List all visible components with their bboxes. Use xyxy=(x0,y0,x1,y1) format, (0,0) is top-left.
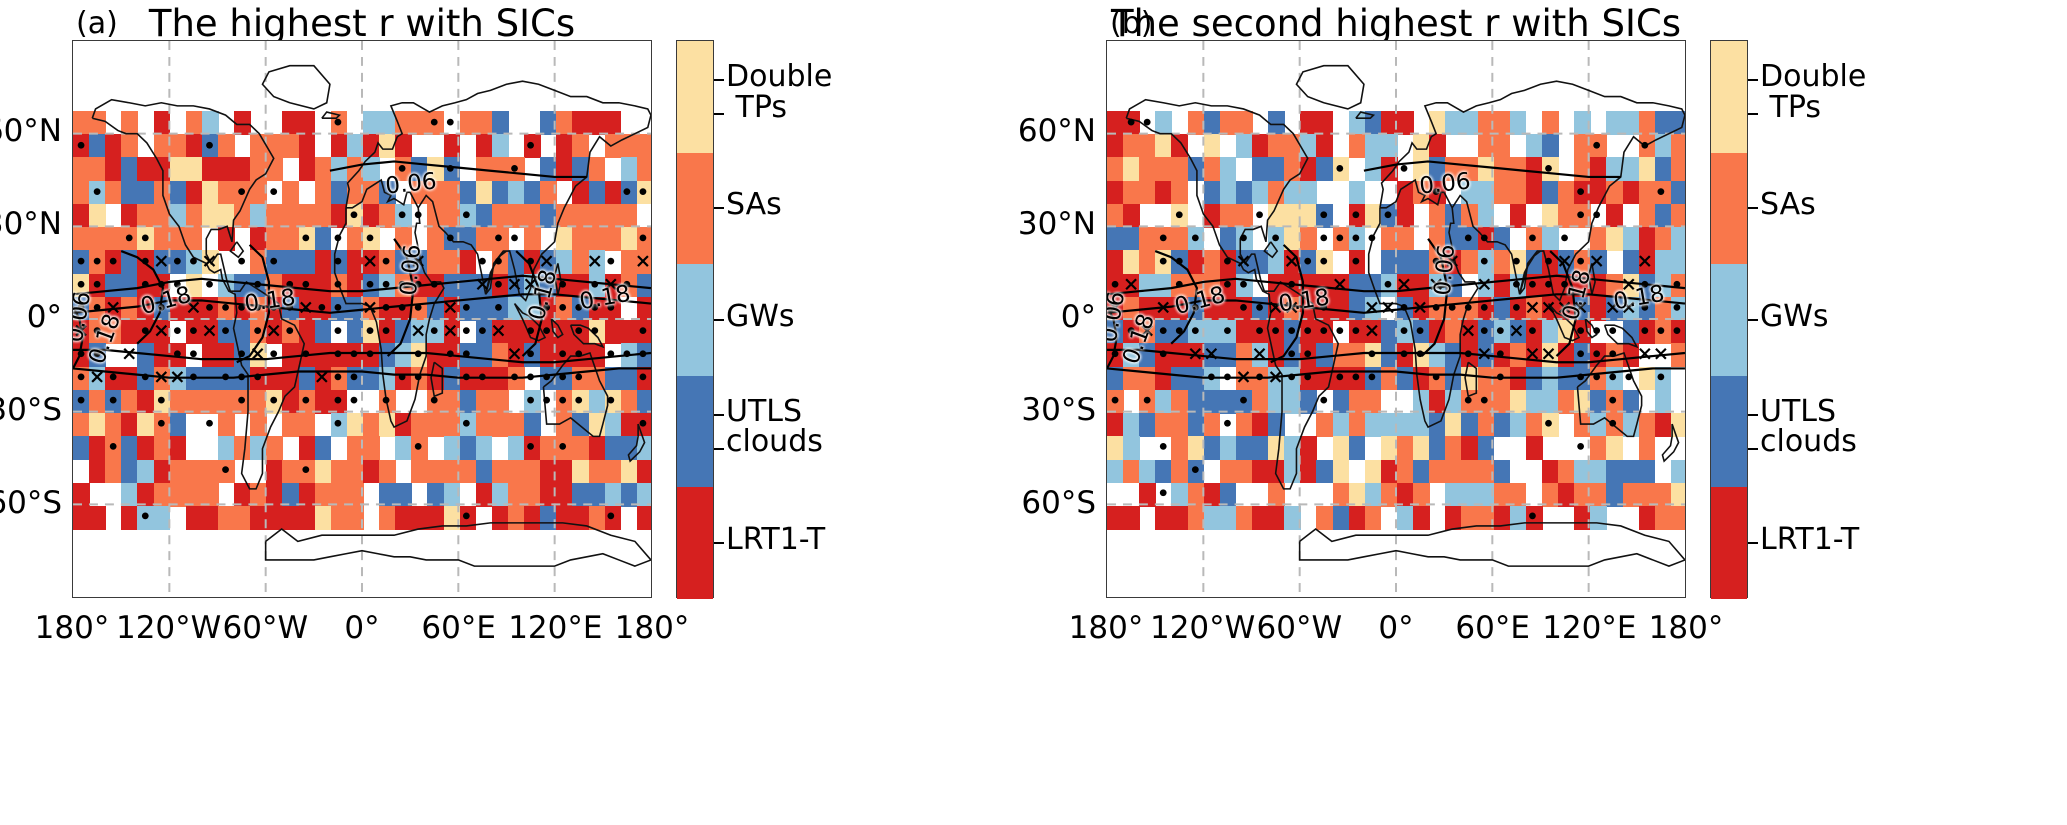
heatmap-cell xyxy=(1606,367,1623,391)
heatmap-cell xyxy=(266,157,283,181)
heatmap-cell xyxy=(234,390,251,414)
heatmap-cell xyxy=(234,181,251,205)
heatmap-cell xyxy=(637,413,652,437)
colorbar-segment-2[interactable] xyxy=(677,264,713,376)
heatmap-cell xyxy=(1590,436,1607,460)
heatmap-cell xyxy=(1639,157,1656,181)
heatmap-cell xyxy=(1171,250,1188,274)
heatmap-cell xyxy=(218,413,235,437)
heatmap-cell xyxy=(266,436,283,460)
heatmap-cell xyxy=(1671,111,1686,135)
heatmap-cell xyxy=(1333,436,1350,460)
heatmap-cell xyxy=(1349,436,1366,460)
heatmap-cell xyxy=(250,204,267,228)
heatmap-cell xyxy=(427,343,444,367)
heatmap-cell xyxy=(1171,134,1188,158)
heatmap-cell xyxy=(1397,274,1414,298)
heatmap-cell xyxy=(1284,343,1301,367)
heatmap-cell xyxy=(1188,413,1205,437)
heatmap-cell xyxy=(121,483,138,507)
heatmap-cell xyxy=(476,227,493,251)
heatmap-cell xyxy=(137,181,154,205)
heatmap-cell xyxy=(137,367,154,391)
heatmap-cell xyxy=(1333,297,1350,321)
heatmap-cell xyxy=(234,204,251,228)
heatmap-cell xyxy=(1333,367,1350,391)
heatmap-cell xyxy=(315,320,332,344)
heatmap-cell xyxy=(1349,343,1366,367)
heatmap-cell xyxy=(1333,343,1350,367)
heatmap-cell xyxy=(1284,157,1301,181)
heatmap-cell xyxy=(572,250,589,274)
heatmap-cell xyxy=(621,157,638,181)
heatmap-cell xyxy=(299,343,316,367)
heatmap-cell xyxy=(427,367,444,391)
heatmap-cell xyxy=(266,320,283,344)
heatmap-cell xyxy=(1461,367,1478,391)
heatmap-cell xyxy=(266,227,283,251)
heatmap-cell xyxy=(1123,181,1140,205)
heatmap-cell xyxy=(121,204,138,228)
heatmap-cell xyxy=(589,181,606,205)
colorbar-tick xyxy=(714,79,724,81)
heatmap-cell xyxy=(170,413,187,437)
heatmap-cell xyxy=(1429,320,1446,344)
heatmap-cell xyxy=(363,134,380,158)
heatmap-cell xyxy=(299,204,316,228)
heatmap-cell xyxy=(1204,250,1221,274)
heatmap-cell xyxy=(170,250,187,274)
heatmap-cell xyxy=(218,157,235,181)
heatmap-cell xyxy=(347,367,364,391)
ytick-a-3: 30°S xyxy=(0,392,62,428)
heatmap-cell xyxy=(1606,181,1623,205)
heatmap-cell xyxy=(202,343,219,367)
heatmap-cell xyxy=(282,227,299,251)
heatmap-cell xyxy=(1494,506,1511,530)
heatmap-cell xyxy=(282,111,299,135)
heatmap-cell xyxy=(1171,483,1188,507)
heatmap-cell xyxy=(1284,506,1301,530)
heatmap-cell xyxy=(1381,227,1398,251)
heatmap-cell xyxy=(170,157,187,181)
colorbar-segment-0[interactable] xyxy=(1711,41,1747,153)
heatmap-cell xyxy=(1478,297,1495,321)
heatmap-cell xyxy=(186,157,203,181)
heatmap-cell xyxy=(605,506,622,530)
heatmap-cell xyxy=(1671,413,1686,437)
heatmap-cell xyxy=(605,436,622,460)
heatmap-cell xyxy=(1236,506,1253,530)
heatmap-cell xyxy=(315,204,332,228)
heatmap-cell xyxy=(1365,320,1382,344)
heatmap-cell xyxy=(218,204,235,228)
heatmap-cell xyxy=(282,320,299,344)
heatmap-cell xyxy=(427,274,444,298)
heatmap-cell xyxy=(1413,343,1430,367)
heatmap-cell xyxy=(1204,343,1221,367)
heatmap-cell xyxy=(1510,483,1527,507)
heatmap-cell xyxy=(121,274,138,298)
heatmap-cell xyxy=(492,483,509,507)
heatmap-cell xyxy=(589,390,606,414)
heatmap-cell xyxy=(1333,413,1350,437)
colorbar-a xyxy=(676,40,714,598)
heatmap-cell xyxy=(1188,157,1205,181)
heatmap-cell xyxy=(315,460,332,484)
heatmap-cell xyxy=(460,413,477,437)
heatmap-cell xyxy=(1381,460,1398,484)
heatmap-cell xyxy=(379,460,396,484)
heatmap-cell xyxy=(379,506,396,530)
heatmap-cell xyxy=(1204,506,1221,530)
heatmap-cell xyxy=(1284,227,1301,251)
heatmap-cell xyxy=(331,483,348,507)
figure-root: (a)The highest r with SICs0.060.180.180.… xyxy=(0,0,2067,825)
heatmap-cell xyxy=(1365,204,1382,228)
heatmap-cell xyxy=(1494,157,1511,181)
heatmap-cell xyxy=(170,436,187,460)
heatmap-cell xyxy=(444,274,461,298)
heatmap-cell xyxy=(347,134,364,158)
heatmap-cell xyxy=(492,413,509,437)
heatmap-cell xyxy=(1655,320,1672,344)
heatmap-cell xyxy=(1252,390,1269,414)
heatmap-cell xyxy=(1671,227,1686,251)
heatmap-cell xyxy=(315,506,332,530)
heatmap-cell xyxy=(73,204,90,228)
heatmap-cell xyxy=(1397,436,1414,460)
heatmap-cell xyxy=(105,134,122,158)
heatmap-cell xyxy=(1349,297,1366,321)
heatmap-cell xyxy=(1365,157,1382,181)
heatmap-cell xyxy=(89,367,106,391)
heatmap-cell xyxy=(1171,390,1188,414)
heatmap-cell xyxy=(1590,343,1607,367)
heatmap-cell xyxy=(1606,390,1623,414)
heatmap-cell xyxy=(121,436,138,460)
heatmap-cell xyxy=(492,390,509,414)
heatmap-cell xyxy=(1639,111,1656,135)
heatmap-cell xyxy=(1574,483,1591,507)
heatmap-cell xyxy=(605,320,622,344)
heatmap-cell xyxy=(1381,413,1398,437)
colorbar-label-0: Double TPs xyxy=(726,62,832,124)
heatmap-cell xyxy=(218,320,235,344)
heatmap-cell xyxy=(460,367,477,391)
heatmap-cell xyxy=(1268,390,1285,414)
heatmap-cell xyxy=(460,181,477,205)
heatmap-cell xyxy=(1188,111,1205,135)
heatmap-cell xyxy=(299,460,316,484)
heatmap-cell xyxy=(1526,134,1543,158)
heatmap-cell xyxy=(363,343,380,367)
heatmap-cell xyxy=(1478,343,1495,367)
heatmap-cell xyxy=(605,367,622,391)
ytick-b-1: 30°N xyxy=(906,206,1096,242)
colorbar-label-0: Double TPs xyxy=(1760,62,1866,124)
heatmap-cell xyxy=(476,436,493,460)
heatmap-cell xyxy=(1606,343,1623,367)
heatmap-cell xyxy=(1510,343,1527,367)
heatmap-cell xyxy=(556,413,573,437)
heatmap-cell xyxy=(1333,157,1350,181)
heatmap-cell xyxy=(363,274,380,298)
heatmap-cell xyxy=(1316,204,1333,228)
heatmap-cell xyxy=(1349,320,1366,344)
colorbar-segment-3[interactable] xyxy=(1711,376,1747,488)
heatmap-cell xyxy=(556,390,573,414)
heatmap-cell xyxy=(1655,227,1672,251)
heatmap-cell xyxy=(121,460,138,484)
heatmap-cell xyxy=(1655,204,1672,228)
heatmap-cell xyxy=(1639,227,1656,251)
colorbar-segment-1[interactable] xyxy=(1711,153,1747,265)
colorbar-segment-1[interactable] xyxy=(677,153,713,265)
heatmap-cell xyxy=(1268,227,1285,251)
heatmap-cell xyxy=(137,343,154,367)
heatmap-cell xyxy=(1316,134,1333,158)
ytick-a-0: 60°N xyxy=(0,113,62,149)
ytick-b-0: 60°N xyxy=(906,113,1096,149)
heatmap-cell xyxy=(299,274,316,298)
heatmap-cell xyxy=(1381,134,1398,158)
heatmap-cell xyxy=(637,134,652,158)
heatmap-cell xyxy=(1478,460,1495,484)
heatmap-cell xyxy=(1606,483,1623,507)
heatmap-cell xyxy=(1542,460,1559,484)
heatmap-cell xyxy=(524,204,541,228)
heatmap-cell xyxy=(1236,367,1253,391)
heatmap-cell xyxy=(508,483,525,507)
heatmap-cell xyxy=(331,250,348,274)
heatmap-cell xyxy=(234,157,251,181)
heatmap-cell xyxy=(1268,367,1285,391)
heatmap-cell xyxy=(121,250,138,274)
heatmap-cell xyxy=(524,413,541,437)
heatmap-cell xyxy=(1365,134,1382,158)
heatmap-cell xyxy=(572,367,589,391)
heatmap-cell xyxy=(1252,297,1269,321)
heatmap-cell xyxy=(73,506,90,530)
heatmap-cell xyxy=(476,181,493,205)
heatmap-cell xyxy=(427,506,444,530)
heatmap-cell xyxy=(492,297,509,321)
heatmap-cell xyxy=(266,483,283,507)
heatmap-cell xyxy=(492,320,509,344)
panel-title-b: The second highest r with SICs xyxy=(1106,2,1686,45)
heatmap-cell xyxy=(1478,506,1495,530)
heatmap-cell xyxy=(1655,181,1672,205)
heatmap-cell xyxy=(460,343,477,367)
heatmap-cell xyxy=(395,320,412,344)
heatmap-cell xyxy=(492,134,509,158)
heatmap-cell xyxy=(492,506,509,530)
heatmap-cell xyxy=(1574,367,1591,391)
heatmap-cell xyxy=(1397,367,1414,391)
heatmap-cell xyxy=(266,134,283,158)
heatmap-cell xyxy=(1252,436,1269,460)
colorbar-tick xyxy=(714,319,724,321)
heatmap-cell xyxy=(1155,367,1172,391)
heatmap-cell xyxy=(331,343,348,367)
heatmap-cell xyxy=(572,204,589,228)
heatmap-cell xyxy=(1461,250,1478,274)
colorbar-segment-4[interactable] xyxy=(1711,487,1747,599)
heatmap-cell xyxy=(1204,483,1221,507)
heatmap-cell xyxy=(1429,204,1446,228)
heatmap-cell xyxy=(637,460,652,484)
colorbar-segment-2[interactable] xyxy=(1711,264,1747,376)
heatmap-cell xyxy=(1139,460,1156,484)
heatmap-cell xyxy=(1639,367,1656,391)
heatmap-cell xyxy=(186,483,203,507)
heatmap-cell xyxy=(460,227,477,251)
heatmap-cell xyxy=(250,367,267,391)
colorbar-label-3: UTLS clouds xyxy=(726,397,823,459)
heatmap-cell xyxy=(1204,413,1221,437)
heatmap-cell xyxy=(572,320,589,344)
colorbar-segment-4[interactable] xyxy=(677,487,713,599)
heatmap-cell xyxy=(1542,227,1559,251)
heatmap-cell xyxy=(1236,204,1253,228)
heatmap-cell xyxy=(218,134,235,158)
heatmap-cell xyxy=(1316,413,1333,437)
heatmap-cell xyxy=(1300,436,1317,460)
colorbar-segment-0[interactable] xyxy=(677,41,713,153)
heatmap-cell xyxy=(1252,320,1269,344)
heatmap-cell xyxy=(411,111,428,135)
heatmap-cell xyxy=(1590,413,1607,437)
heatmap-cell xyxy=(379,320,396,344)
heatmap-cell xyxy=(1252,413,1269,437)
heatmap-cell xyxy=(1413,436,1430,460)
heatmap-cell xyxy=(492,250,509,274)
heatmap-cell xyxy=(411,413,428,437)
colorbar-segment-3[interactable] xyxy=(677,376,713,488)
heatmap-cell xyxy=(379,111,396,135)
heatmap-cell xyxy=(105,436,122,460)
heatmap-cell xyxy=(105,181,122,205)
heatmap-cell xyxy=(1623,157,1640,181)
heatmap-cell xyxy=(1220,157,1237,181)
heatmap-cell xyxy=(1268,134,1285,158)
heatmap-cell xyxy=(1494,343,1511,367)
heatmap-cell xyxy=(1655,413,1672,437)
heatmap-cell xyxy=(1478,157,1495,181)
heatmap-cell xyxy=(444,390,461,414)
heatmap-cell xyxy=(621,181,638,205)
heatmap-cell xyxy=(1510,297,1527,321)
heatmap-cell xyxy=(1316,157,1333,181)
heatmap-cell xyxy=(121,111,138,135)
heatmap-cell xyxy=(1236,111,1253,135)
colorbar-label-3: UTLS clouds xyxy=(1760,397,1857,459)
heatmap-cell xyxy=(1268,157,1285,181)
heatmap-cell xyxy=(1461,343,1478,367)
heatmap-cell xyxy=(556,227,573,251)
heatmap-cell xyxy=(1300,157,1317,181)
heatmap-cell xyxy=(508,436,525,460)
heatmap-cell xyxy=(1478,227,1495,251)
heatmap-cell xyxy=(1220,506,1237,530)
heatmap-cell xyxy=(1316,367,1333,391)
heatmap-cell xyxy=(1220,390,1237,414)
heatmap-cell xyxy=(363,436,380,460)
heatmap-cell xyxy=(605,134,622,158)
heatmap-cell xyxy=(1333,460,1350,484)
heatmap-cell xyxy=(1526,181,1543,205)
heatmap-cell xyxy=(508,460,525,484)
heatmap-cell xyxy=(1494,483,1511,507)
heatmap-cell xyxy=(1461,483,1478,507)
heatmap-cell xyxy=(1494,181,1511,205)
heatmap-cell xyxy=(427,320,444,344)
heatmap-cell xyxy=(1236,250,1253,274)
heatmap-cell xyxy=(1268,320,1285,344)
heatmap-cell xyxy=(299,390,316,414)
heatmap-cell xyxy=(1397,227,1414,251)
heatmap-cell xyxy=(137,157,154,181)
heatmap-cell xyxy=(331,157,348,181)
heatmap-cell xyxy=(1558,181,1575,205)
heatmap-cell xyxy=(1123,134,1140,158)
heatmap-cell xyxy=(1300,320,1317,344)
heatmap-cell xyxy=(1526,274,1543,298)
heatmap-cell xyxy=(1139,413,1156,437)
heatmap-cell xyxy=(1123,367,1140,391)
heatmap-cell xyxy=(1333,274,1350,298)
heatmap-cell xyxy=(331,181,348,205)
heatmap-cell xyxy=(572,111,589,135)
heatmap-cell xyxy=(1494,274,1511,298)
heatmap-cell xyxy=(1204,367,1221,391)
heatmap-cell xyxy=(637,343,652,367)
heatmap-cell xyxy=(444,506,461,530)
heatmap-cell xyxy=(492,111,509,135)
heatmap-cell xyxy=(621,483,638,507)
heatmap-cell xyxy=(154,460,171,484)
heatmap-cell xyxy=(572,134,589,158)
heatmap-cell xyxy=(1155,460,1172,484)
heatmap-cell xyxy=(1429,297,1446,321)
heatmap-cell xyxy=(1526,506,1543,530)
heatmap-cell xyxy=(1671,274,1686,298)
heatmap-cell xyxy=(427,227,444,251)
heatmap-cell xyxy=(154,320,171,344)
heatmap-cell xyxy=(379,204,396,228)
heatmap-cell xyxy=(202,390,219,414)
heatmap-cell xyxy=(282,506,299,530)
ytick-a-2: 0° xyxy=(0,299,62,335)
heatmap-cell xyxy=(621,390,638,414)
heatmap-cell xyxy=(556,343,573,367)
heatmap-cell xyxy=(218,227,235,251)
colorbar-tick xyxy=(1748,414,1758,416)
heatmap-cell xyxy=(202,181,219,205)
heatmap-cell xyxy=(1171,367,1188,391)
heatmap-cell xyxy=(89,390,106,414)
heatmap-cell xyxy=(250,413,267,437)
heatmap-cell xyxy=(508,250,525,274)
heatmap-cell xyxy=(121,413,138,437)
heatmap-cell xyxy=(218,181,235,205)
heatmap-cell xyxy=(347,413,364,437)
heatmap-cell xyxy=(331,367,348,391)
heatmap-cell xyxy=(1268,181,1285,205)
heatmap-cell xyxy=(218,390,235,414)
heatmap-cell xyxy=(250,227,267,251)
